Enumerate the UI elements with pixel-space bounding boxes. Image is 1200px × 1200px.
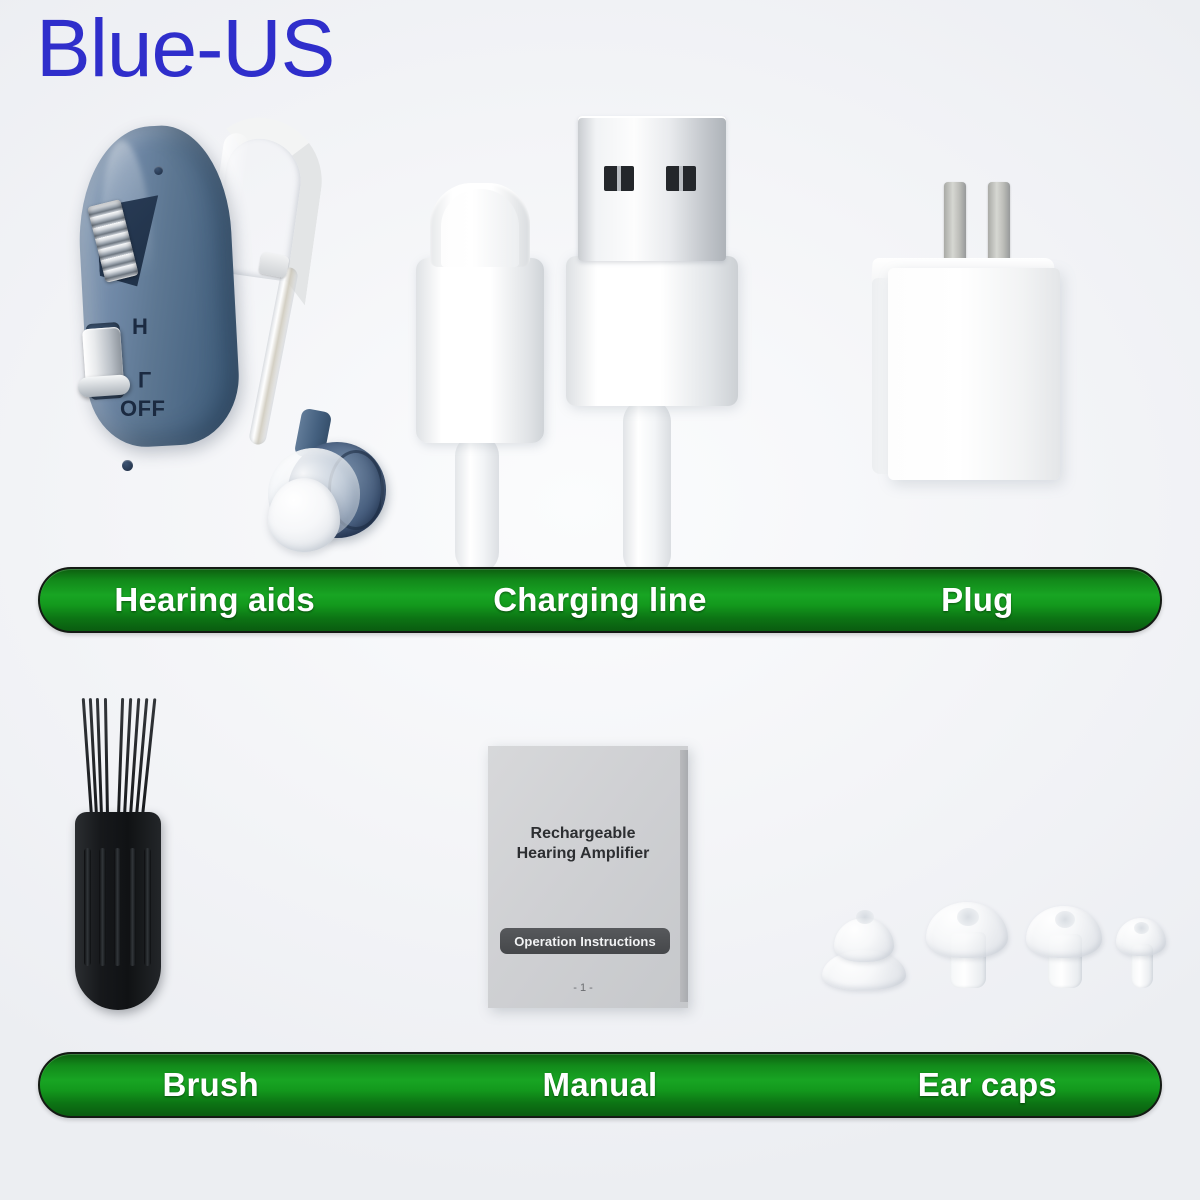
brush-grip-rib-icon [144,848,151,966]
usb-c-cord-icon [455,434,499,574]
manual-title-line1: Rechargeable [531,825,636,842]
product-plug [862,160,1102,500]
manual-cover-icon [488,746,688,1008]
hearing-aid-label-off: OFF [120,396,166,422]
ear-cap-upper-flange-icon [834,918,894,962]
product-hearing-aid: H L OFF [60,118,390,548]
label-ear-caps: Ear caps [801,1066,1174,1104]
ear-cap-large-icon [926,896,1008,992]
brush-grip-rib-icon [99,848,106,966]
manual-operation-instructions-badge: Operation Instructions [500,928,670,954]
usb-a-connector-icon [578,116,726,261]
manual-cover-title: Rechargeable Hearing Amplifier [488,824,678,864]
hearing-aid-label-low: L [138,366,151,392]
hearing-aid-microphone-port-icon [154,166,163,175]
hearing-aid-mode-switch-icon [82,327,124,388]
product-manual: Rechargeable Hearing Amplifier Operation… [488,746,688,1008]
page-title: Blue-US [36,6,334,92]
product-ear-caps [810,868,1170,1000]
ear-cap-small-icon [1116,914,1166,992]
usb-a-contact-slot-right-icon [666,166,696,191]
label-plug: Plug [791,581,1164,619]
brush-handle-icon [75,812,161,1010]
manual-spine-icon [680,750,688,1002]
label-hearing-aids: Hearing aids [28,581,401,619]
usb-a-housing-icon [566,256,738,406]
plug-front-face-icon [888,268,1060,480]
manual-title-line2: Hearing Amplifier [517,845,650,862]
brush-bristle-icon [104,698,109,820]
product-brush [62,692,192,1032]
brush-grip-rib-icon [84,848,91,966]
usb-c-connector-icon [430,183,530,267]
plug-prong-right-icon [988,182,1010,264]
label-bar-bottom: Brush Manual Ear caps [38,1052,1162,1118]
ear-cap-bore-icon [1134,922,1149,934]
manual-page-number: - 1 - [488,982,678,994]
brush-grip-rib-icon [114,848,121,966]
label-charging-line: Charging line [413,581,786,619]
label-manual: Manual [413,1066,786,1104]
usb-c-housing-icon [416,258,544,443]
ear-cap-medium-icon [1026,900,1102,992]
hearing-aid-label-high: H [132,314,148,340]
ear-cap-double-flange-icon [822,906,906,992]
usb-a-contact-slot-left-icon [604,166,634,191]
hearing-aid-lower-port-icon [122,460,133,471]
ear-cap-bore-icon [957,908,979,926]
ear-cap-bore-icon [856,910,874,924]
product-accessories-image: Blue-US H L OFF [0,0,1200,1200]
ear-cap-bore-icon [1055,911,1075,928]
usb-a-cord-icon [623,398,671,578]
label-bar-top: Hearing aids Charging line Plug [38,567,1162,633]
brush-grip-rib-icon [129,848,136,966]
product-charging-line [408,108,768,568]
label-brush: Brush [24,1066,397,1104]
plug-prong-left-icon [944,182,966,264]
